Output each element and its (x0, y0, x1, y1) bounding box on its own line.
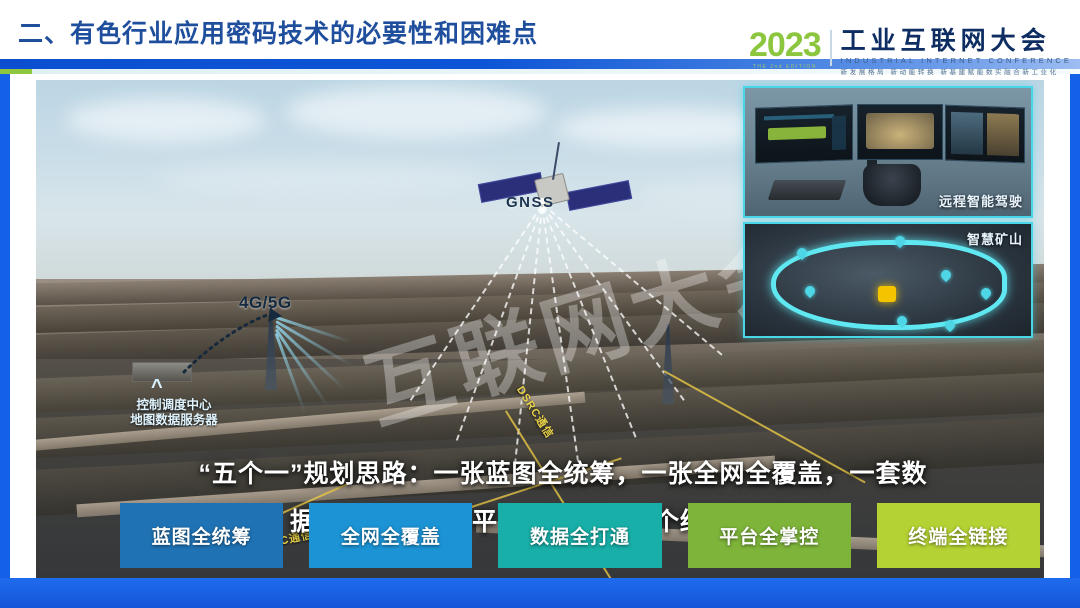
map-marker-center-icon (878, 286, 896, 302)
key-box-label: 平台全掌控 (719, 522, 819, 549)
key-box-network[interactable]: 全网全覆盖 (309, 503, 472, 568)
key-box-terminal[interactable]: 终端全链接 (877, 503, 1040, 568)
cloud-shape (66, 98, 266, 142)
logo-year-block: 2023 THE 2nd EDITION (749, 28, 821, 70)
mine-photo-diagram: GNSS 4G/5G ^ 控制调度中心 地图数据服务器 DSRC通信 DSRC通… (36, 80, 1044, 578)
frame-right-bar (1070, 74, 1080, 608)
gnss-label: GNSS (506, 194, 555, 211)
key-box-label: 数据全打通 (530, 522, 630, 549)
logo-year-subtitle: THE 2nd EDITION (749, 64, 821, 70)
key-points-row: 蓝图全统筹 全网全覆盖 数据全打通 平台全掌控 终端全链接 (120, 503, 1040, 568)
logo-name-block: 工业互联网大会 INDUSTRIAL INTERNET CONFERENCE 新… (841, 28, 1072, 76)
inset-label-remote-driving: 远程智能驾驶 (939, 191, 1023, 210)
logo-divider (830, 30, 832, 66)
frame-bottom-bar (0, 578, 1080, 608)
control-center-label: 控制调度中心 地图数据服务器 (104, 398, 244, 428)
key-box-label: 全网全覆盖 (341, 522, 441, 549)
key-box-blueprint[interactable]: 蓝图全统筹 (120, 503, 283, 568)
logo-name-cn: 工业互联网大会 (841, 28, 1072, 55)
cloud-shape (156, 160, 496, 196)
keyboard (768, 180, 846, 200)
presentation-slide: 二、有色行业应用密码技术的必要性和困难点 2023 THE 2nd EDITIO… (0, 0, 1080, 608)
key-box-platform[interactable]: 平台全掌控 (688, 503, 851, 568)
logo-name-cn-subtitle: 新发展格局 新动能转换 新基建赋能数实融合新工业化 (841, 66, 1072, 76)
monitor-screen (857, 104, 943, 160)
control-center-line2: 地图数据服务器 (104, 413, 244, 428)
key-box-label: 终端全链接 (908, 522, 1008, 549)
key-box-data[interactable]: 数据全打通 (498, 503, 661, 568)
logo-name-en: INDUSTRIAL INTERNET CONFERENCE (841, 56, 1072, 65)
control-center-line1: 控制调度中心 (104, 398, 244, 413)
logo-year: 2023 (749, 28, 821, 62)
cloud-shape (286, 86, 546, 138)
key-box-label: 蓝图全统筹 (152, 522, 252, 549)
steering-wheel (863, 164, 921, 206)
frame-left-bar (0, 74, 10, 608)
inset-remote-driving: 远程智能驾驶 (743, 86, 1033, 218)
caption-line-1: “五个一”规划思路：一张蓝图全统筹，一张全网全覆盖，一套数 (88, 450, 1038, 498)
conference-logo: 2023 THE 2nd EDITION 工业互联网大会 INDUSTRIAL … (749, 28, 1072, 76)
uplink-arrow-icon (126, 300, 306, 390)
monitor-screen (945, 105, 1025, 164)
inset-label-smart-mine: 智慧矿山 (967, 229, 1023, 248)
page-title: 二、有色行业应用密码技术的必要性和困难点 (18, 14, 538, 50)
monitor-screen (755, 104, 853, 163)
inset-smart-mine: 智慧矿山 (743, 222, 1033, 338)
